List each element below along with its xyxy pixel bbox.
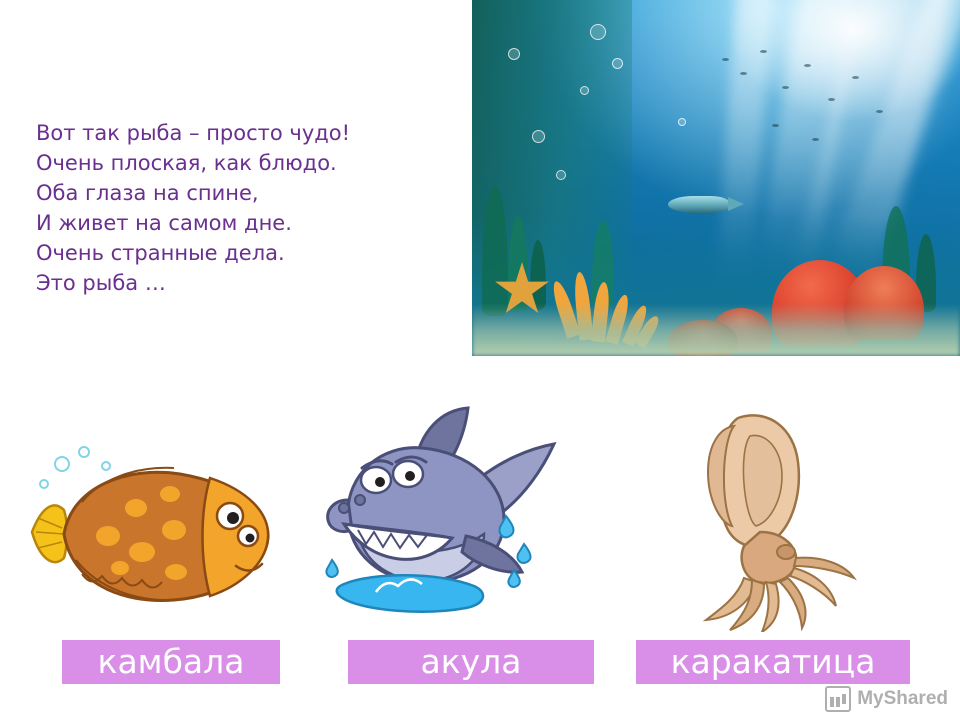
riddle-line-4: И живет на самом дне. [36,208,456,238]
small-fish [828,98,835,101]
shark-svg [318,396,562,628]
small-fish [772,124,779,127]
small-fish [876,110,883,113]
bubble [580,86,589,95]
bubble [612,58,623,69]
blue-fish-icon [668,196,730,213]
shark-illustration [318,396,562,628]
riddle-text-block: Вот так рыба – просто чудо! Очень плоска… [36,118,456,298]
bubble [532,130,545,143]
answer-label-shark[interactable]: акула [348,640,594,684]
riddle-line-6: Это рыба … [36,268,456,298]
small-fish [740,72,747,75]
cuttlefish-svg [664,406,896,632]
bubble [556,170,566,180]
flounder-illustration [24,440,288,628]
small-fish [760,50,767,53]
sandy-floor [472,304,960,356]
cuttlefish-illustration [664,406,896,632]
bubble [678,118,686,126]
small-fish [812,138,819,141]
riddle-line-2: Очень плоская, как блюдо. [36,148,456,178]
flounder-svg [24,440,288,628]
bubble [508,48,520,60]
watermark: MyShared [825,686,948,712]
answer-label-flounder[interactable]: камбала [62,640,280,684]
answer-label-cuttlefish[interactable]: каракатица [636,640,910,684]
small-fish [852,76,859,79]
riddle-line-1: Вот так рыба – просто чудо! [36,118,456,148]
underwater-photo [472,0,960,356]
riddle-line-3: Оба глаза на спине, [36,178,456,208]
small-fish [804,64,811,67]
small-fish [722,58,729,61]
myshared-logo-icon [825,686,851,712]
riddle-line-5: Очень странные дела. [36,238,456,268]
watermark-text: MyShared [857,688,948,710]
small-fish [782,86,789,89]
bubble [590,24,606,40]
